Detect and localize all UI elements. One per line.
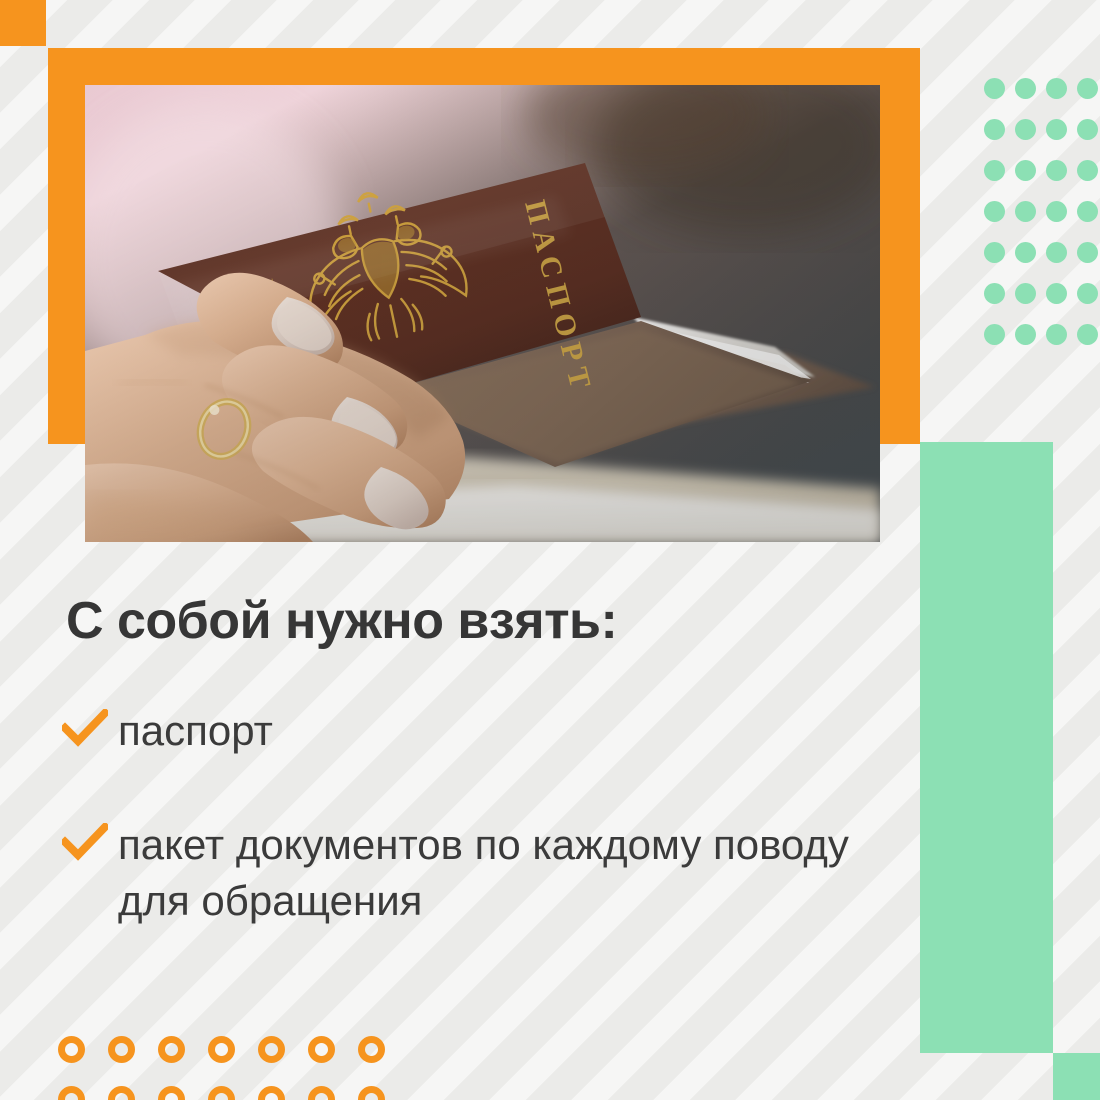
orange-ring [358,1086,385,1100]
check-icon [62,817,118,861]
green-dot [984,242,1005,263]
orange-ring [108,1086,135,1100]
orange-ring [158,1036,185,1063]
green-dot [1046,201,1067,222]
orange-ring [208,1086,235,1100]
green-dot [1077,78,1098,99]
orange-ring [308,1036,335,1063]
green-dot [1077,160,1098,181]
green-dot [1046,160,1067,181]
green-dot [984,283,1005,304]
list-item-label: паспорт [118,703,273,759]
green-dot [1046,283,1067,304]
green-vertical-bar [920,442,1053,1053]
list-item: паспорт [62,703,892,759]
green-dot [1046,119,1067,140]
green-dot [1046,324,1067,345]
green-dot [1077,242,1098,263]
orange-ring [258,1086,285,1100]
green-dot [984,78,1005,99]
list-item-label: пакет документов по каждому поводу для о… [118,817,892,929]
orange-ring [308,1086,335,1100]
orange-ring [258,1036,285,1063]
page-title: С собой нужно взять: [66,591,617,651]
green-dot [1077,283,1098,304]
orange-ring [58,1086,85,1100]
orange-ring [158,1086,185,1100]
passport-photo-illustration: РОССИЙСКАЯ ФЕДЕРАЦИЯ ПАСПОРТ [85,85,880,542]
green-dot-grid [984,78,1100,340]
list-item: пакет документов по каждому поводу для о… [62,817,892,929]
green-dot [984,324,1005,345]
green-dot [984,201,1005,222]
orange-ring [358,1036,385,1063]
green-dot [1015,78,1036,99]
orange-ring [108,1036,135,1063]
check-icon [62,703,118,747]
green-dot [1046,242,1067,263]
green-dot [1077,119,1098,140]
green-dot [1015,242,1036,263]
green-corner-square [1053,1053,1100,1100]
green-dot [1015,324,1036,345]
orange-ring [208,1036,235,1063]
poster-canvas: РОССИЙСКАЯ ФЕДЕРАЦИЯ ПАСПОРТ [0,0,1100,1100]
checklist: паспорт пакет документов по каждому пово… [62,703,892,987]
passport-photo: РОССИЙСКАЯ ФЕДЕРАЦИЯ ПАСПОРТ [85,85,880,542]
green-dot [1077,324,1098,345]
green-dot [1015,283,1036,304]
green-dot [1046,78,1067,99]
orange-corner-square [0,0,46,46]
green-dot [984,160,1005,181]
green-dot [1077,201,1098,222]
green-dot [1015,119,1036,140]
green-dot [1015,201,1036,222]
green-dot [1015,160,1036,181]
green-dot [984,119,1005,140]
orange-ring [58,1036,85,1063]
orange-ring-grid [58,1036,398,1100]
